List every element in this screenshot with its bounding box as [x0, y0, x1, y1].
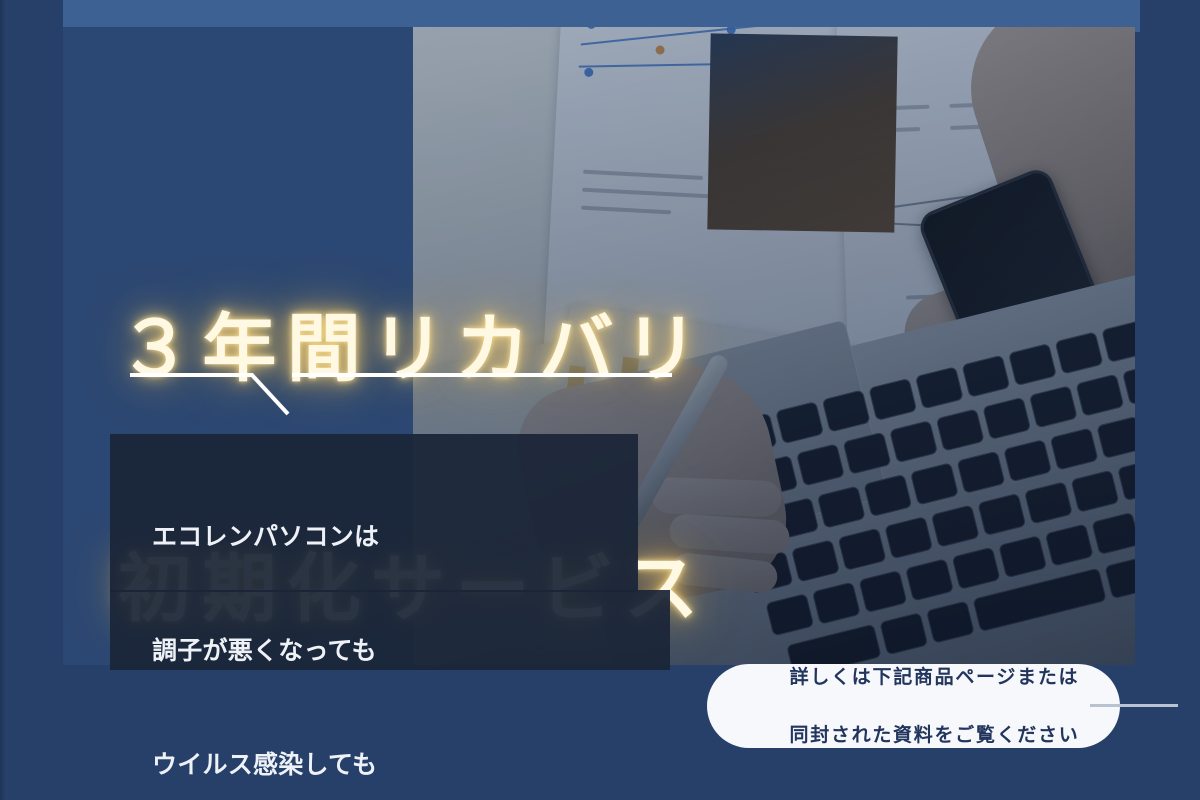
info-line-1: エコレンパソコンは: [152, 518, 672, 556]
promo-banner: ３年間リカバリ 初期化サービス エコレンパソコンは 調子が悪くなっても ウイルス…: [0, 0, 1200, 800]
info-line-3: ウイルス感染しても: [152, 746, 672, 784]
headline-line-1: ３年間リカバリ: [118, 311, 978, 386]
callout-pill-text: 詳しくは下記商品ページまたは 同封された資料をご覧ください: [748, 634, 1080, 779]
callout-line-1: 詳しくは下記商品ページまたは: [790, 667, 1080, 688]
info-text-block: エコレンパソコンは 調子が悪くなっても ウイルス感染しても 設定を狂わせてしまっ…: [152, 442, 672, 800]
left-edge-shadow: [0, 0, 10, 800]
info-line-2: 調子が悪くなっても: [152, 632, 672, 670]
callout-pill[interactable]: 詳しくは下記商品ページまたは 同封された資料をご覧ください: [707, 664, 1120, 748]
callout-pointer-line: [1090, 704, 1178, 707]
callout-line-2: 同封された資料をご覧ください: [789, 725, 1079, 746]
